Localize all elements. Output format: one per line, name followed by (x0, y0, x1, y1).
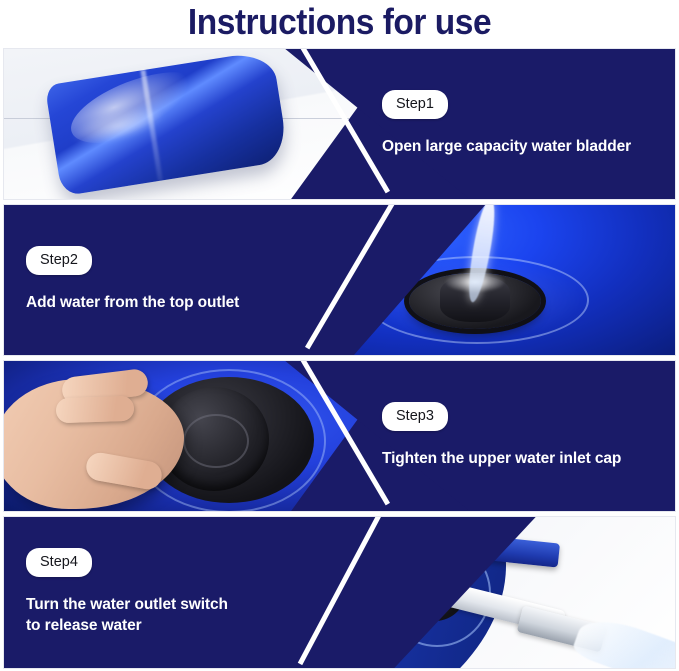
step-4-caption: Turn the water outlet switch to release … (26, 595, 326, 637)
step-2-badge: Step2 (26, 246, 92, 276)
step-panel-4: Step4 Turn the water outlet switch to re… (3, 516, 676, 669)
step-4-content: Step4 Turn the water outlet switch to re… (26, 517, 326, 668)
step-panel-2: Step2 Add water from the top outlet (3, 204, 676, 356)
step-panel-3: Step3 Tighten the upper water inlet cap (3, 360, 676, 512)
step-4-badge: Step4 (26, 548, 92, 578)
step-4-caption-line-1: Turn the water outlet switch (26, 596, 228, 613)
step-4-caption-line-2: to release water (26, 617, 142, 634)
page-title: Instructions for use (24, 0, 655, 46)
step-3-caption: Tighten the upper water inlet cap (382, 449, 672, 470)
step-2-caption: Add water from the top outlet (26, 293, 326, 314)
finger-2 (56, 396, 135, 424)
water-jet (571, 610, 675, 668)
step-1-content: Step1 Open large capacity water bladder (382, 49, 672, 199)
step-2-content: Step2 Add water from the top outlet (26, 205, 326, 355)
step-1-badge: Step1 (382, 90, 448, 120)
instructions-infographic: Instructions for use Step1 Open large ca… (0, 0, 679, 671)
step-1-caption: Open large capacity water bladder (382, 137, 672, 158)
step-3-badge: Step3 (382, 402, 448, 432)
step-3-content: Step3 Tighten the upper water inlet cap (382, 361, 672, 511)
step-panel-1: Step1 Open large capacity water bladder (3, 48, 676, 200)
